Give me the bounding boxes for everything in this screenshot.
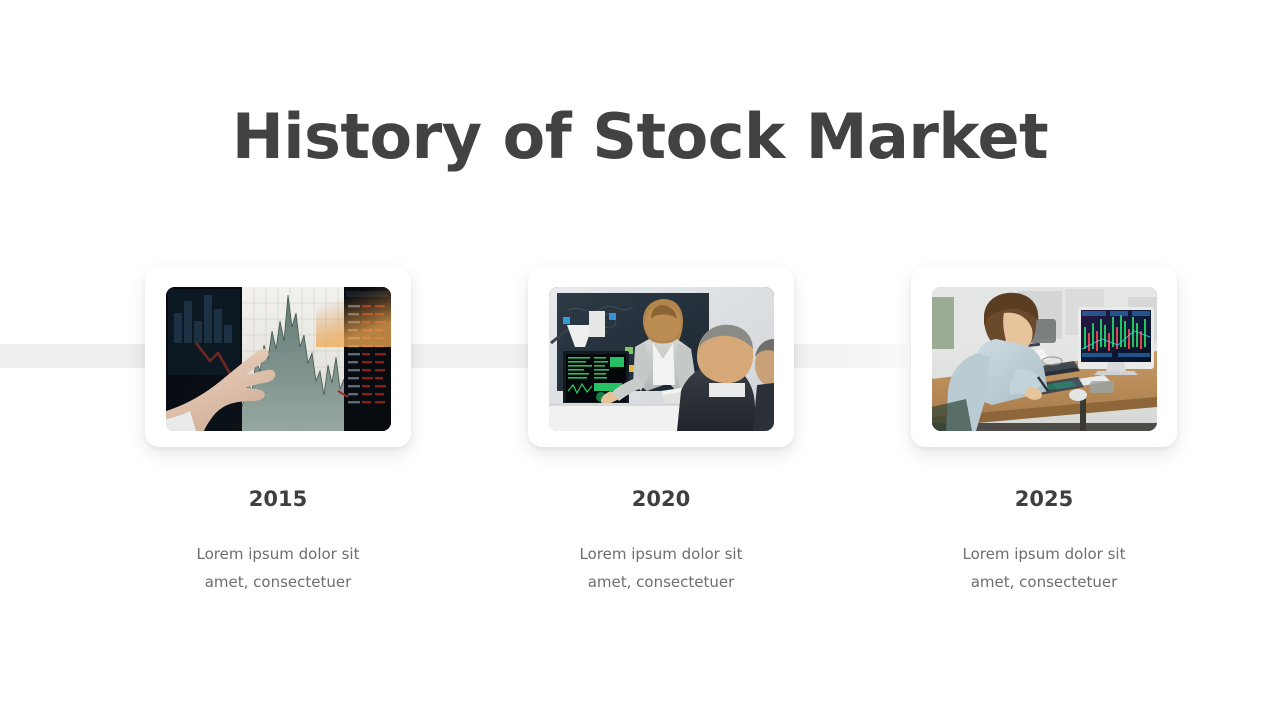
timeline-card-2025[interactable] [911, 267, 1177, 447]
photo-desk-analyst [932, 287, 1157, 431]
timeline-year-label: 2025 [894, 484, 1194, 514]
timeline-year-label: 2015 [128, 484, 428, 514]
timeline-year-label: 2020 [511, 484, 811, 514]
page-title: History of Stock Market [0, 100, 1280, 174]
timeline-captions-row: 2015 Lorem ipsum dolor sit amet, consect… [0, 484, 1280, 614]
timeline-caption-2025: 2025 Lorem ipsum dolor sit amet, consect… [894, 484, 1194, 596]
timeline-description: Lorem ipsum dolor sit amet, consectetuer [894, 540, 1194, 596]
timeline-description: Lorem ipsum dolor sit amet, consectetuer [128, 540, 428, 596]
timeline-caption-2020: 2020 Lorem ipsum dolor sit amet, consect… [511, 484, 811, 596]
timeline-card-2015[interactable] [145, 267, 411, 447]
photo-stock-chart-pointing [166, 287, 391, 431]
timeline-caption-2015: 2015 Lorem ipsum dolor sit amet, consect… [128, 484, 428, 596]
photo-trading-presentation [549, 287, 774, 431]
timeline-cards-row [0, 267, 1280, 447]
slide-canvas: History of Stock Market [0, 0, 1280, 720]
timeline-card-2020[interactable] [528, 267, 794, 447]
timeline-description: Lorem ipsum dolor sit amet, consectetuer [511, 540, 811, 596]
